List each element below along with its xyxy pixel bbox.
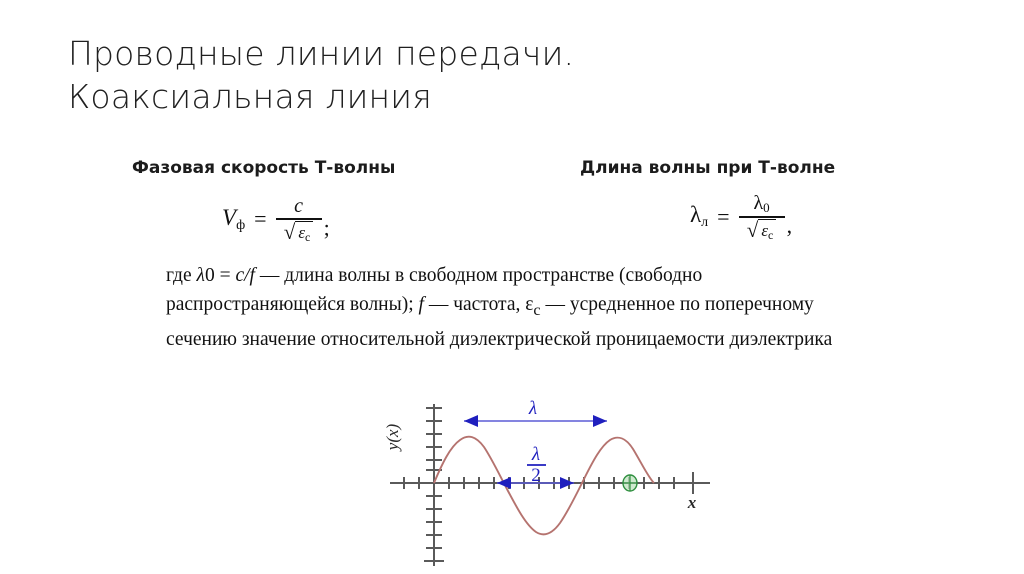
- formula-right-denominator: √ εс: [743, 218, 781, 241]
- formula-left-lhs: Vф: [222, 205, 245, 234]
- formula-left-radical: √ εс: [284, 222, 314, 243]
- radical-sign-icon: √: [284, 222, 296, 243]
- formula-right-radical: √ εс: [747, 220, 777, 241]
- formula-left-denominator: √ εс: [280, 220, 318, 243]
- page-title-line-2: Коаксиальная линия: [68, 75, 968, 118]
- half-wavelength-numerator: λ: [531, 444, 540, 465]
- chart-sine-curve: [434, 437, 654, 535]
- page-title-line-1: Проводные линии передачи.: [68, 32, 968, 75]
- body-paragraph: где λ0 = c/f — длина волны в свободном п…: [166, 261, 880, 354]
- section-heading-wavelength: Длина волны при Т-волне: [580, 158, 835, 178]
- formula-right-lhs-subscript: л: [701, 215, 708, 230]
- formula-right-numerator-subscript: 0: [763, 200, 770, 215]
- page-title: Проводные линии передачи. Коаксиальная л…: [68, 32, 968, 118]
- wavelength-arrow-head-right: [593, 415, 607, 427]
- chart-y-axis-label: y(x): [383, 423, 402, 452]
- wavelength-label: λ: [528, 398, 537, 419]
- annotation-half-wavelength: λ 2: [497, 444, 574, 489]
- formula-right-numerator: λ0: [747, 193, 775, 216]
- half-wavelength-denominator: 2: [531, 465, 541, 486]
- formula-right-radicand-subscript: с: [768, 228, 773, 242]
- formula-left-lhs-subscript: ф: [236, 218, 245, 233]
- chart-axes: [390, 404, 710, 566]
- formula-right-fraction: λ0 √ εс: [739, 193, 785, 241]
- formula-left-punctuation: ;: [324, 215, 330, 243]
- annotation-wavelength: λ: [464, 398, 607, 427]
- zero-crossing-marker-icon: [623, 475, 637, 491]
- formula-phase-velocity: Vф = c √ εс ;: [222, 196, 330, 243]
- formula-right-radicand: εс: [758, 222, 776, 241]
- sine-wave-chart: y(x): [380, 392, 730, 574]
- half-wavelength-arrow-head-right: [560, 477, 574, 489]
- formula-left-equals: =: [254, 206, 266, 232]
- slide-canvas: Проводные линии передачи. Коаксиальная л…: [0, 0, 1024, 574]
- half-wavelength-arrow-head-left: [497, 477, 511, 489]
- formula-wavelength: λл = λ0 √ εс ,: [690, 193, 792, 241]
- formula-left-fraction: c √ εс: [276, 196, 322, 243]
- radical-sign-icon: √: [747, 220, 759, 241]
- formula-right-punctuation: ,: [787, 213, 793, 241]
- formula-left-numerator: c: [288, 196, 309, 218]
- formula-right-lhs: λл: [690, 202, 708, 231]
- formula-left-radicand: εс: [295, 224, 313, 243]
- section-heading-phase-velocity: Фазовая скорость Т-волны: [132, 158, 395, 178]
- formula-right-equals: =: [717, 204, 729, 230]
- wavelength-arrow-head-left: [464, 415, 478, 427]
- chart-x-axis-label: x: [687, 493, 697, 512]
- formula-left-radicand-subscript: с: [305, 230, 310, 244]
